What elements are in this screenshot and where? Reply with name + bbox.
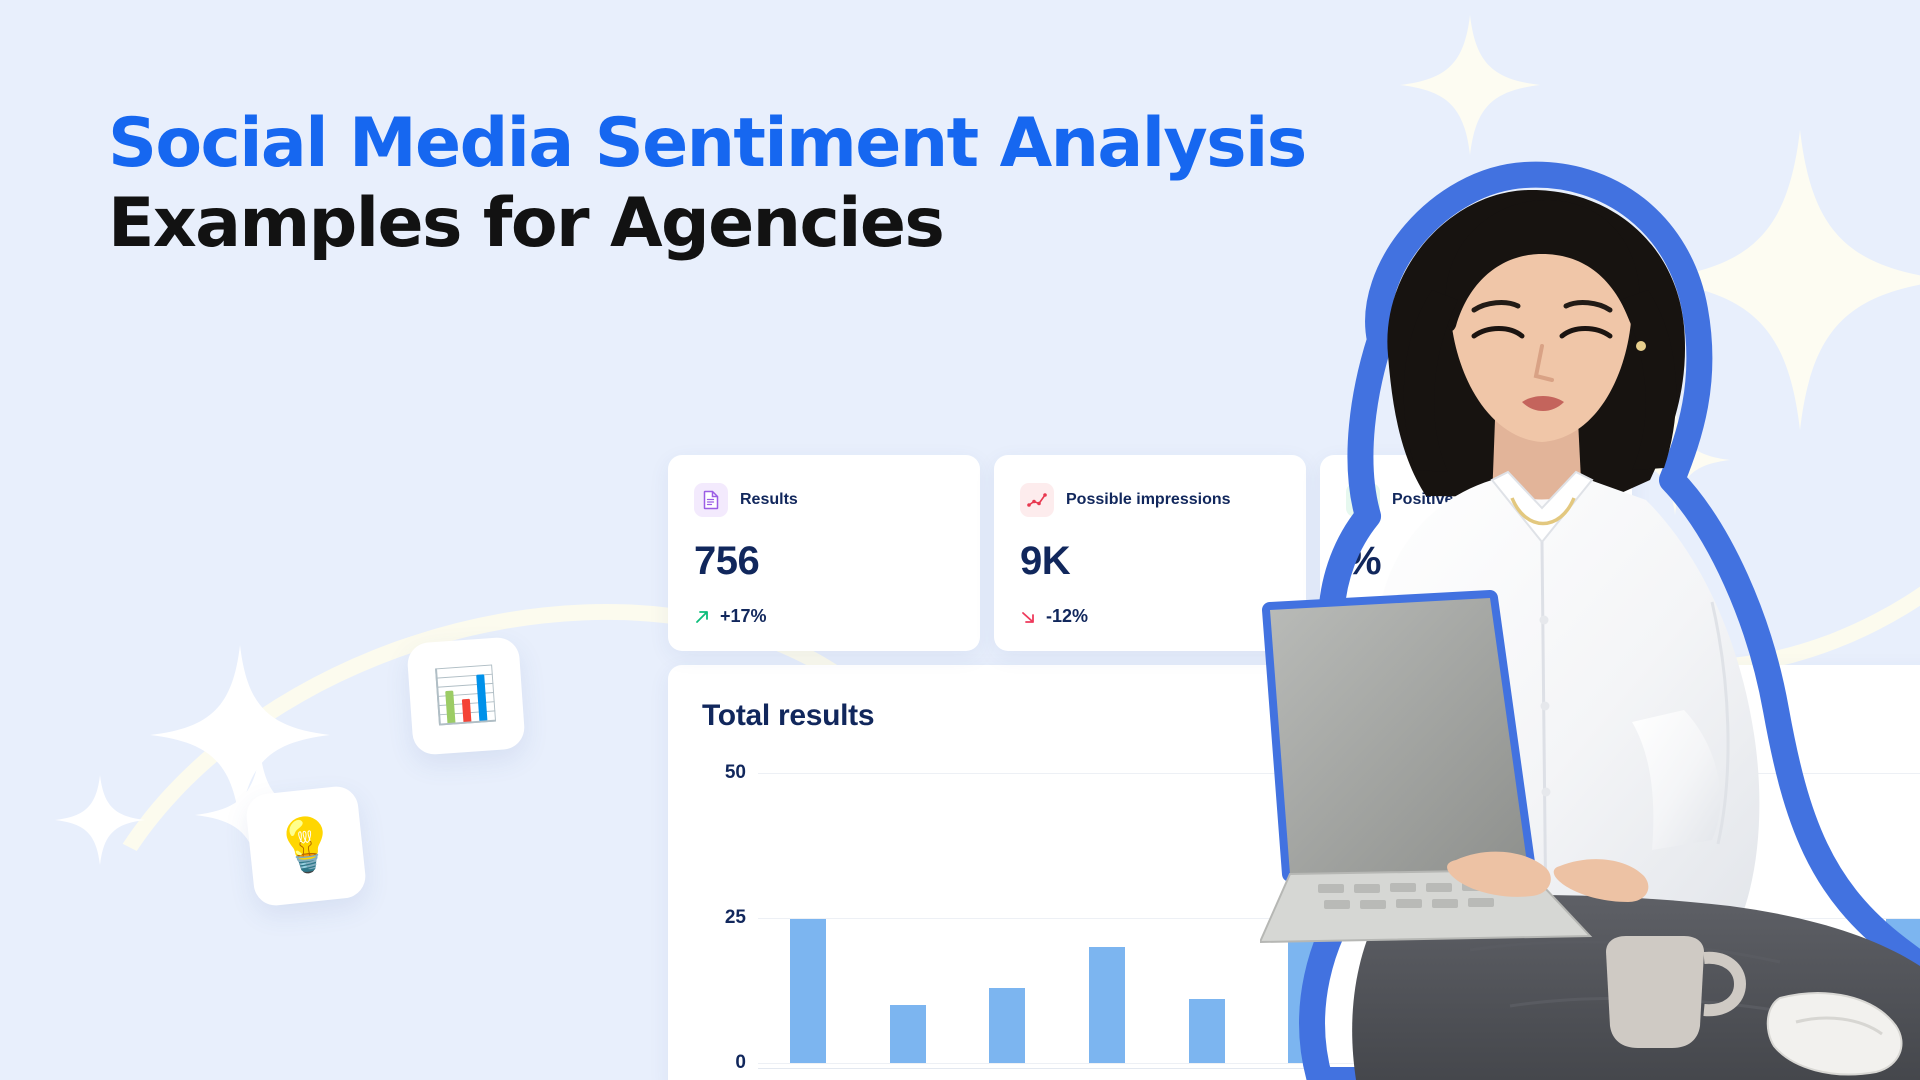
sparkle-icon [1400, 10, 1540, 160]
y-axis-tick-label: 50 [702, 762, 746, 784]
chart-bar[interactable] [989, 988, 1025, 1063]
page-title-line-2: Examples for Agencies [108, 188, 1306, 260]
chart-bar[interactable] [1189, 999, 1225, 1063]
kpi-value: 756 [694, 539, 954, 584]
kpi-delta-value: -12% [1046, 606, 1088, 627]
page-title: Social Media Sentiment Analysis Examples… [108, 108, 1306, 260]
chart-bar[interactable] [790, 918, 826, 1063]
lightbulb-icon: 💡 [271, 817, 341, 875]
kpi-delta: +17% [694, 606, 954, 627]
kpi-header: Results [694, 483, 954, 517]
arrow-down-icon [1020, 609, 1036, 625]
kpi-label: Possible impressions [1066, 491, 1231, 509]
bar-chart-tile: 📊 [406, 636, 526, 756]
kpi-value: 9K [1020, 539, 1280, 584]
lightbulb-tile: 💡 [244, 784, 367, 907]
arrow-up-icon [694, 609, 710, 625]
y-axis-tick-label: 25 [702, 907, 746, 929]
kpi-header: Possible impressions [1020, 483, 1280, 517]
kpi-label: Results [740, 491, 798, 509]
kpi-delta: -12% [1020, 606, 1280, 627]
document-icon [694, 483, 728, 517]
bar-chart-icon: 📊 [432, 668, 500, 724]
page-title-line-1: Social Media Sentiment Analysis [108, 108, 1306, 180]
kpi-delta-value: +17% [720, 606, 767, 627]
chart-bar[interactable] [1089, 947, 1125, 1063]
sparkle-icon [55, 770, 145, 870]
kpi-card-results[interactable]: Results 756 +17% [668, 455, 980, 651]
chart-bar[interactable] [890, 1005, 926, 1063]
line-chart-icon [1020, 483, 1054, 517]
y-axis-tick-label: 0 [702, 1052, 746, 1074]
person-photo [1260, 150, 1920, 1080]
